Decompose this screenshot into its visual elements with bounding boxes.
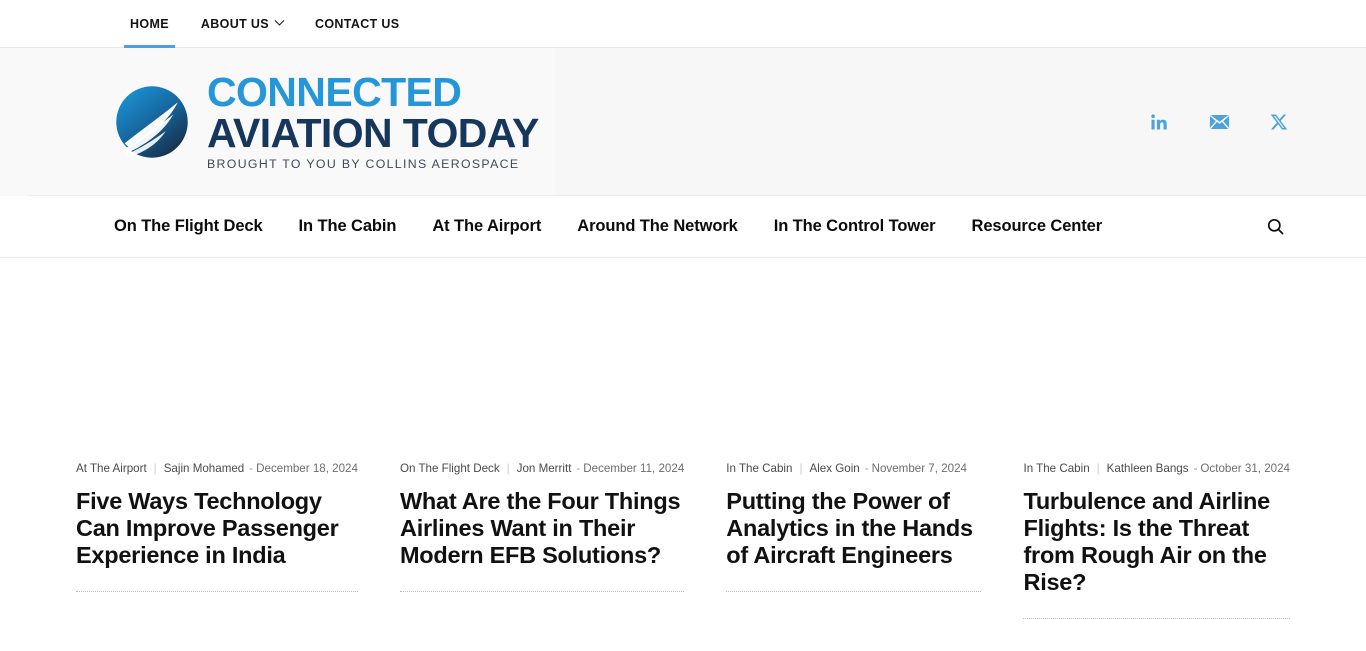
logo-tagline: BROUGHT TO YOU BY COLLINS AEROSPACE [207, 157, 539, 171]
mail-icon[interactable] [1208, 111, 1230, 133]
x-twitter-icon[interactable] [1268, 111, 1290, 133]
article-author[interactable]: Sajin Mohamed [164, 462, 245, 475]
article-thumbnail[interactable] [76, 284, 358, 456]
article-date: October 31, 2024 [1200, 462, 1290, 475]
main-navigation-items: On The Flight Deck In The Cabin At The A… [114, 217, 1120, 236]
card-divider [76, 591, 358, 592]
card-divider [726, 591, 981, 592]
meta-separator: | [147, 462, 164, 475]
article-author[interactable]: Jon Merritt [517, 462, 572, 475]
chevron-down-icon [275, 16, 285, 26]
meta-separator: | [500, 462, 517, 475]
article-card[interactable]: At The Airport | Sajin Mohamed - Decembe… [76, 258, 358, 619]
article-category[interactable]: In The Cabin [1023, 462, 1089, 475]
logo-line-connected: CONNECTED [207, 73, 539, 112]
meta-dash: - [1189, 462, 1201, 475]
linkedin-icon[interactable] [1148, 111, 1170, 133]
article-category[interactable]: In The Cabin [726, 462, 792, 475]
logo-line-aviation-today: AVIATION TODAY [207, 113, 539, 154]
topnav-item-home-label: HOME [130, 17, 169, 31]
article-meta: In The Cabin | Alex Goin - November 7, 2… [726, 462, 981, 475]
article-thumbnail[interactable] [1023, 284, 1290, 456]
meta-dash: - [244, 462, 256, 475]
article-meta: At The Airport | Sajin Mohamed - Decembe… [76, 462, 358, 475]
article-author[interactable]: Alex Goin [809, 462, 859, 475]
article-title[interactable]: Turbulence and Airline Flights: Is the T… [1023, 488, 1290, 596]
article-title[interactable]: What Are the Four Things Airlines Want i… [400, 488, 684, 569]
article-author[interactable]: Kathleen Bangs [1107, 462, 1189, 475]
article-date: December 18, 2024 [256, 462, 358, 475]
topnav-item-contact-us[interactable]: CONTACT US [299, 0, 416, 47]
search-icon [1266, 217, 1285, 236]
nav-item-on-the-flight-deck[interactable]: On The Flight Deck [114, 217, 281, 236]
site-logo[interactable]: CONNECTED AVIATION TODAY BROUGHT TO YOU … [114, 73, 539, 170]
nav-item-in-the-cabin[interactable]: In The Cabin [281, 217, 415, 236]
top-utility-bar-inner: HOME ABOUT US CONTACT US [38, 0, 1328, 47]
meta-dash: - [860, 462, 872, 475]
meta-dash: - [571, 462, 583, 475]
article-date: November 7, 2024 [872, 462, 967, 475]
top-utility-bar: HOME ABOUT US CONTACT US [0, 0, 1366, 48]
article-card[interactable]: On The Flight Deck | Jon Merritt - Decem… [400, 258, 684, 619]
search-button[interactable] [1260, 212, 1290, 242]
card-divider [400, 591, 684, 592]
article-card[interactable]: In The Cabin | Alex Goin - November 7, 2… [726, 258, 981, 619]
card-divider [1023, 618, 1290, 619]
logo-wordmark: CONNECTED AVIATION TODAY BROUGHT TO YOU … [207, 73, 539, 170]
article-meta: On The Flight Deck | Jon Merritt - Decem… [400, 462, 684, 475]
article-thumbnail[interactable] [400, 284, 684, 456]
topnav-item-about-us-label: ABOUT US [201, 17, 269, 31]
main-navigation-inner: On The Flight Deck In The Cabin At The A… [38, 196, 1328, 257]
masthead: CONNECTED AVIATION TODAY BROUGHT TO YOU … [0, 48, 1366, 196]
topnav-item-about-us[interactable]: ABOUT US [185, 0, 299, 47]
topnav-item-home[interactable]: HOME [114, 0, 185, 47]
article-title[interactable]: Five Ways Technology Can Improve Passeng… [76, 488, 358, 569]
logo-sphere-icon [114, 84, 190, 160]
meta-separator: | [1090, 462, 1107, 475]
main-navigation: On The Flight Deck In The Cabin At The A… [0, 196, 1366, 258]
social-links [1148, 111, 1290, 133]
article-meta: In The Cabin | Kathleen Bangs - October … [1023, 462, 1290, 475]
nav-item-at-the-airport[interactable]: At The Airport [414, 217, 559, 236]
article-category[interactable]: At The Airport [76, 462, 147, 475]
article-date: December 11, 2024 [583, 462, 684, 475]
topnav-item-contact-us-label: CONTACT US [315, 17, 400, 31]
masthead-inner: CONNECTED AVIATION TODAY BROUGHT TO YOU … [38, 48, 1328, 196]
nav-item-in-the-control-tower[interactable]: In The Control Tower [756, 217, 954, 236]
article-thumbnail[interactable] [726, 284, 981, 456]
article-card[interactable]: In The Cabin | Kathleen Bangs - October … [1023, 258, 1290, 619]
nav-item-resource-center[interactable]: Resource Center [954, 217, 1121, 236]
article-category[interactable]: On The Flight Deck [400, 462, 500, 475]
meta-separator: | [792, 462, 809, 475]
article-card-grid: At The Airport | Sajin Mohamed - Decembe… [38, 258, 1328, 619]
article-title[interactable]: Putting the Power of Analytics in the Ha… [726, 488, 981, 569]
nav-item-around-the-network[interactable]: Around The Network [559, 217, 755, 236]
